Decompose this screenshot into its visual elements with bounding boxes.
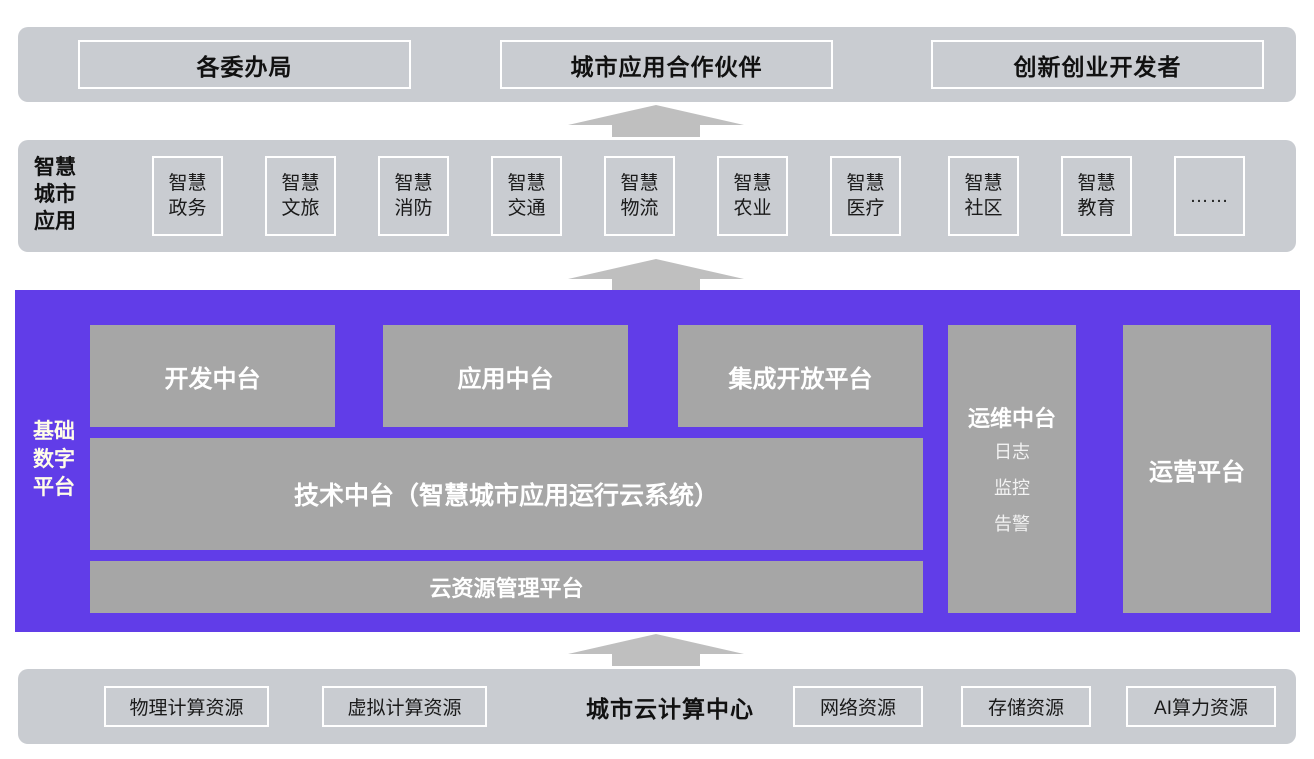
layer-platform-title-line: 基础 xyxy=(33,418,95,446)
layer-platform-title: 基础 数字 平台 xyxy=(33,418,95,502)
layer-apps-title: 智慧 城市 应用 xyxy=(34,154,114,235)
platform-box-cloud-resource-management-platform[interactable]: 云资源管理平台 xyxy=(90,561,923,613)
app-box-smart-agriculture[interactable]: 智慧 农业 xyxy=(717,156,788,236)
platform-box-label: 技术中台（智慧城市应用运行云系统） xyxy=(294,476,719,512)
app-box-smart-community[interactable]: 智慧 社区 xyxy=(948,156,1019,236)
platform-box-operations-middle-platform[interactable]: 运维中台 日志 监控 告警 xyxy=(948,325,1076,613)
arrow-platform-to-apps-icon xyxy=(568,257,744,293)
layer-apps-title-line: 城市 xyxy=(34,181,114,208)
infra-center-label-text: 城市云计算中心 xyxy=(586,690,754,724)
app-box-smart-logistics[interactable]: 智慧 物流 xyxy=(604,156,675,236)
consumer-label: 创新创业开发者 xyxy=(1014,48,1182,82)
ops-sub-item-monitoring: 监控 xyxy=(994,471,1030,505)
platform-box-label: 应用中台 xyxy=(458,359,554,394)
layer-city-cloud-computing-center: 物理计算资源 虚拟计算资源 城市云计算中心 网络资源 存储资源 AI算力资源 xyxy=(18,669,1296,744)
app-box-line2: 农业 xyxy=(733,196,771,221)
platform-box-application-middle-platform[interactable]: 应用中台 xyxy=(383,325,628,427)
platform-box-operation-platform[interactable]: 运营平台 xyxy=(1123,325,1271,613)
app-box-line1: 智慧 xyxy=(1077,171,1115,196)
app-box-smart-transportation[interactable]: 智慧 交通 xyxy=(491,156,562,236)
smart-city-architecture-diagram: 各委办局 城市应用合作伙伴 创新创业开发者 智慧 城市 应用 智慧 政务 智慧 … xyxy=(0,0,1314,759)
platform-box-technology-middle-platform[interactable]: 技术中台（智慧城市应用运行云系统） xyxy=(90,438,923,550)
app-box-line1: 智慧 xyxy=(281,171,319,196)
layer-consumers: 各委办局 城市应用合作伙伴 创新创业开发者 xyxy=(18,27,1296,102)
infra-box-label: 存储资源 xyxy=(988,693,1064,720)
app-box-smart-government[interactable]: 智慧 政务 xyxy=(152,156,223,236)
ops-sub-item-alarm: 告警 xyxy=(994,507,1030,541)
layer-platform-title-line: 平台 xyxy=(33,474,95,502)
app-box-line2: 医疗 xyxy=(846,196,884,221)
app-box-line2: 社区 xyxy=(964,196,1002,221)
layer-apps-title-line: 智慧 xyxy=(34,154,114,181)
platform-box-integration-open-platform[interactable]: 集成开放平台 xyxy=(678,325,923,427)
infra-box-label: AI算力资源 xyxy=(1154,693,1248,720)
app-box-line2: 教育 xyxy=(1077,196,1115,221)
layer-platform-title-line: 数字 xyxy=(33,446,95,474)
layer-smart-city-applications: 智慧 城市 应用 智慧 政务 智慧 文旅 智慧 消防 智慧 交通 智慧 物流 智… xyxy=(18,140,1296,252)
infra-box-label: 虚拟计算资源 xyxy=(347,693,461,720)
app-box-smart-education[interactable]: 智慧 教育 xyxy=(1061,156,1132,236)
infra-box-label: 网络资源 xyxy=(820,693,896,720)
app-box-line1: 智慧 xyxy=(620,171,658,196)
app-box-line1: 智慧 xyxy=(846,171,884,196)
consumer-label: 城市应用合作伙伴 xyxy=(571,48,763,82)
app-box-line2: 交通 xyxy=(507,196,545,221)
app-box-line2: 物流 xyxy=(620,196,658,221)
platform-box-label: 云资源管理平台 xyxy=(429,571,583,603)
infra-box-label: 物理计算资源 xyxy=(129,693,243,720)
infra-box-physical-compute-resource[interactable]: 物理计算资源 xyxy=(104,686,269,727)
consumer-box-government-bureaus[interactable]: 各委办局 xyxy=(78,40,411,89)
infra-center-title: 城市云计算中心 xyxy=(555,686,785,727)
platform-box-label: 运维中台 xyxy=(968,401,1056,433)
app-box-smart-culture-tourism[interactable]: 智慧 文旅 xyxy=(265,156,336,236)
ops-sub-item-log: 日志 xyxy=(994,435,1030,469)
app-box-smart-healthcare[interactable]: 智慧 医疗 xyxy=(830,156,901,236)
consumer-label: 各委办局 xyxy=(197,48,293,82)
arrow-infra-to-platform-icon xyxy=(568,632,744,668)
infra-box-ai-compute-resource[interactable]: AI算力资源 xyxy=(1126,686,1276,727)
infra-box-storage-resource[interactable]: 存储资源 xyxy=(961,686,1091,727)
app-box-line2: 消防 xyxy=(394,196,432,221)
app-box-more-ellipsis[interactable]: …… xyxy=(1174,156,1245,236)
app-box-line1: 智慧 xyxy=(168,171,206,196)
app-box-line1: 智慧 xyxy=(394,171,432,196)
app-box-line1: 智慧 xyxy=(964,171,1002,196)
infra-box-network-resource[interactable]: 网络资源 xyxy=(793,686,923,727)
platform-box-label: 运营平台 xyxy=(1149,452,1245,487)
platform-box-development-middle-platform[interactable]: 开发中台 xyxy=(90,325,335,427)
platform-box-label: 开发中台 xyxy=(165,359,261,394)
infra-box-virtual-compute-resource[interactable]: 虚拟计算资源 xyxy=(322,686,487,727)
app-box-line1: 智慧 xyxy=(733,171,771,196)
ellipsis-label: …… xyxy=(1190,184,1230,209)
app-box-smart-firefighting[interactable]: 智慧 消防 xyxy=(378,156,449,236)
layer-apps-title-line: 应用 xyxy=(34,208,114,235)
platform-box-label: 集成开放平台 xyxy=(729,359,873,394)
consumer-box-innovation-developers[interactable]: 创新创业开发者 xyxy=(931,40,1264,89)
app-box-line1: 智慧 xyxy=(507,171,545,196)
app-box-line2: 政务 xyxy=(168,196,206,221)
layer-basic-digital-platform: 基础 数字 平台 开发中台 应用中台 集成开放平台 技术中台（智慧城市应用运行云… xyxy=(15,290,1300,632)
arrow-apps-to-consumers-icon xyxy=(568,103,744,139)
consumer-box-city-app-partners[interactable]: 城市应用合作伙伴 xyxy=(500,40,833,89)
app-box-line2: 文旅 xyxy=(281,196,319,221)
